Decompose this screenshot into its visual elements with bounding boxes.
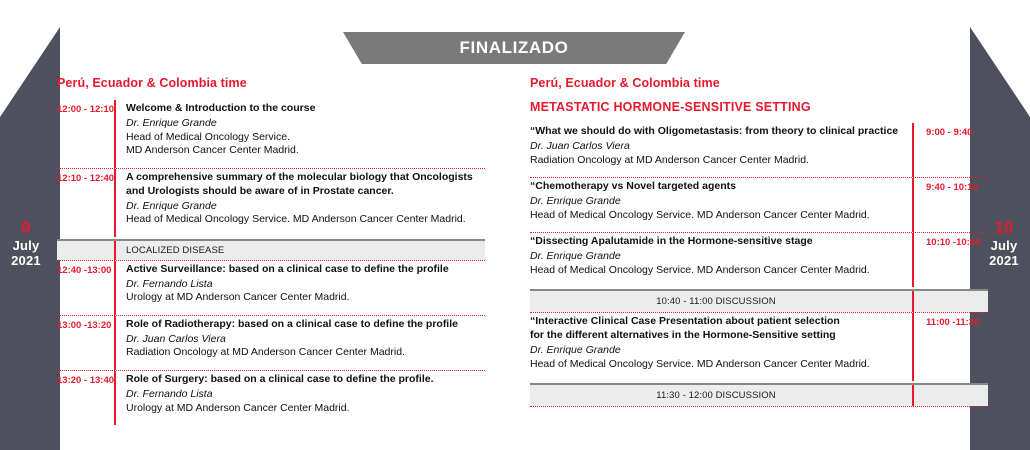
status-badge: FINALIZADO	[460, 38, 569, 58]
session-row: 13:20 - 13:40Role of Surgery: based on a…	[57, 371, 485, 425]
session-affiliation: MD Anderson Cancer Center Madrid.	[126, 144, 485, 158]
session-time: 9:00 - 9:40	[914, 123, 988, 177]
session-row: 13:00 -13:20Role of Radiotherapy: based …	[57, 316, 485, 370]
session-speaker: Dr. Juan Carlos Viera	[126, 333, 485, 347]
timeline-rule	[114, 261, 116, 315]
session-row: “Interactive Clinical Case Presentation …	[530, 313, 988, 381]
session-list-right: “What we should do with Oligometastasis:…	[530, 123, 988, 407]
session-speaker: Dr. Enrique Grande	[530, 250, 902, 264]
session-affiliation: Head of Medical Oncology Service. MD And…	[530, 264, 902, 278]
session-body: Welcome & Introduction to the courseDr. …	[126, 100, 485, 168]
timeline-rule	[114, 100, 116, 168]
session-affiliation: Head of Medical Oncology Service. MD And…	[530, 209, 902, 223]
session-time: 10:10 -10:40	[914, 233, 988, 287]
session-body: A comprehensive summary of the molecular…	[126, 169, 485, 237]
session-body: Role of Radiotherapy: based on a clinica…	[126, 316, 485, 370]
session-time: 9:40 - 10:10	[914, 178, 988, 232]
band-underline	[530, 406, 988, 407]
session-time: 12:10 - 12:40	[57, 169, 114, 237]
session-affiliation: Head of Medical Oncology Service.	[126, 131, 485, 145]
session-speaker: Dr. Enrique Grande	[126, 117, 485, 131]
session-title: A comprehensive summary of the molecular…	[126, 171, 485, 199]
timeline-rule	[912, 385, 914, 406]
session-affiliation: Urology at MD Anderson Cancer Center Mad…	[126, 402, 485, 416]
agenda-column-right: Perú, Ecuador & Colombia time METASTATIC…	[530, 76, 988, 407]
session-time: 12:40 -13:00	[57, 261, 114, 315]
timeline-rule	[114, 371, 116, 425]
session-affiliation: Radiation Oncology at MD Anderson Cancer…	[530, 154, 902, 168]
timeline-rule	[114, 169, 116, 237]
session-title: Role of Radiotherapy: based on a clinica…	[126, 318, 485, 332]
day-left-number: 9	[0, 218, 52, 238]
session-title: “Chemotherapy vs Novel targeted agents	[530, 180, 902, 194]
session-row: “What we should do with Oligometastasis:…	[530, 123, 988, 177]
session-speaker: Dr. Fernando Lista	[126, 278, 485, 292]
timezone-header-left: Perú, Ecuador & Colombia time	[57, 76, 485, 90]
day-panel-left: 9 July 2021	[0, 0, 60, 450]
session-affiliation: Urology at MD Anderson Cancer Center Mad…	[126, 291, 485, 305]
day-left-year: 2021	[0, 253, 52, 268]
day-left-month: July	[0, 238, 52, 253]
session-speaker: Dr. Juan Carlos Viera	[530, 140, 902, 154]
session-time: 13:20 - 13:40	[57, 371, 114, 425]
session-body: “Chemotherapy vs Novel targeted agentsDr…	[530, 178, 912, 232]
session-title: “What we should do with Oligometastasis:…	[530, 125, 902, 139]
band-label: 11:30 - 12:00 DISCUSSION	[656, 390, 861, 401]
session-body: Role of Surgery: based on a clinical cas…	[126, 371, 485, 425]
timeline-rule	[114, 241, 116, 260]
session-title: “Interactive Clinical Case Presentation …	[530, 315, 902, 343]
session-title: Active Surveillance: based on a clinical…	[126, 263, 485, 277]
session-affiliation: Head of Medical Oncology Service. MD And…	[530, 358, 902, 372]
session-title: Role of Surgery: based on a clinical cas…	[126, 373, 485, 387]
status-banner: FINALIZADO	[343, 32, 685, 64]
session-row: “Dissecting Apalutamide in the Hormone-s…	[530, 233, 988, 287]
agenda-page: 9 July 2021 10 July 2021 FINALIZADO Perú…	[0, 0, 1030, 450]
session-body: “Dissecting Apalutamide in the Hormone-s…	[530, 233, 912, 287]
session-speaker: Dr. Enrique Grande	[126, 200, 485, 214]
agenda-column-left: Perú, Ecuador & Colombia time 12:00 - 12…	[57, 76, 485, 425]
session-affiliation: Radiation Oncology at MD Anderson Cancer…	[126, 346, 485, 360]
band-label: 10:40 - 11:00 DISCUSSION	[656, 296, 861, 307]
timeline-rule	[912, 291, 914, 312]
session-affiliation: Head of Medical Oncology Service. MD And…	[126, 213, 485, 227]
session-body: Active Surveillance: based on a clinical…	[126, 261, 485, 315]
section-title-metastatic: METASTATIC HORMONE-SENSITIVE SETTING	[530, 100, 988, 114]
section-band: LOCALIZED DISEASE	[57, 239, 485, 260]
session-row: 12:10 - 12:40A comprehensive summary of …	[57, 169, 485, 237]
session-time: 11:00 -11:30	[914, 313, 988, 381]
timezone-header-right: Perú, Ecuador & Colombia time	[530, 76, 988, 90]
session-speaker: Dr. Enrique Grande	[530, 344, 902, 358]
session-body: “What we should do with Oligometastasis:…	[530, 123, 912, 177]
session-title: “Dissecting Apalutamide in the Hormone-s…	[530, 235, 902, 249]
session-row: “Chemotherapy vs Novel targeted agentsDr…	[530, 178, 988, 232]
session-time: 13:00 -13:20	[57, 316, 114, 370]
session-row: 12:00 - 12:10Welcome & Introduction to t…	[57, 100, 485, 168]
timeline-rule	[114, 316, 116, 370]
session-body: “Interactive Clinical Case Presentation …	[530, 313, 912, 381]
day-left-inner: 9 July 2021	[0, 218, 60, 269]
session-time: 12:00 - 12:10	[57, 100, 114, 168]
discussion-band: 11:30 - 12:00 DISCUSSION	[530, 383, 988, 406]
discussion-band: 10:40 - 11:00 DISCUSSION	[530, 289, 988, 312]
band-label: LOCALIZED DISEASE	[57, 245, 224, 256]
session-speaker: Dr. Fernando Lista	[126, 388, 485, 402]
session-speaker: Dr. Enrique Grande	[530, 195, 902, 209]
session-list-left: 12:00 - 12:10Welcome & Introduction to t…	[57, 100, 485, 425]
session-row: 12:40 -13:00Active Surveillance: based o…	[57, 261, 485, 315]
session-title: Welcome & Introduction to the course	[126, 102, 485, 116]
